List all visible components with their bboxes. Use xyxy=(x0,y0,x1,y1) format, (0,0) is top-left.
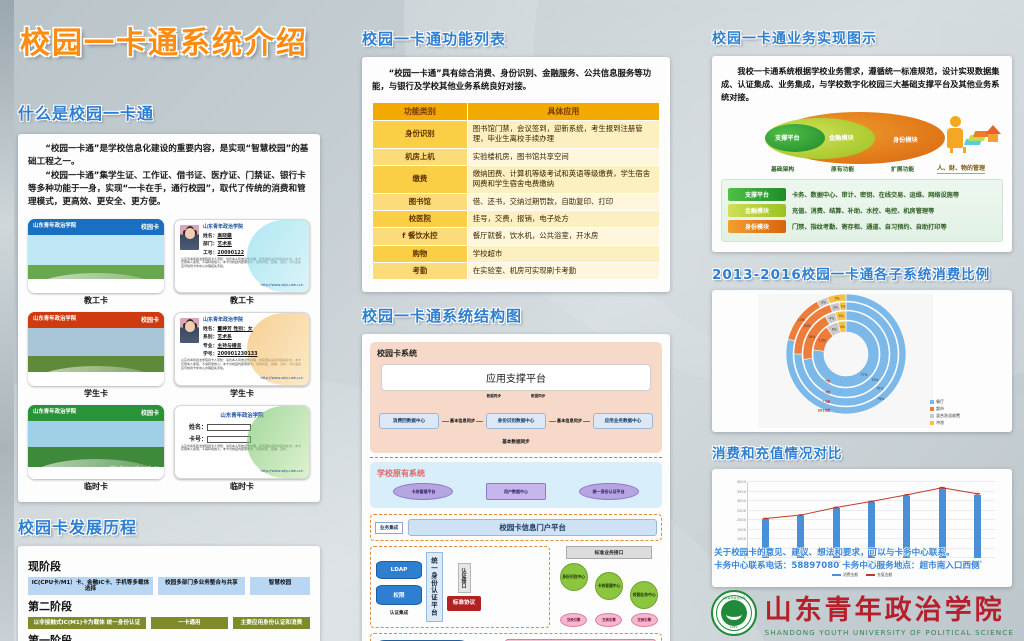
card-cell: 山东青年政治学院 姓名：高晓霞 部门：艺术系 工号：20090122 山东省青年… xyxy=(174,219,310,306)
card-university-name: 山东青年政治学院 xyxy=(33,317,76,323)
y-axis-tick-label: 1000 xyxy=(737,537,746,541)
stage-chip: 智慧校园 xyxy=(250,577,310,595)
cell-application: 图书馆门禁，会议签到，迎新系统，考生报到注册管理，毕业生离校手续办理 xyxy=(467,120,659,148)
card-kind-label: 校园卡 xyxy=(141,315,159,324)
sunburst-label: 5% xyxy=(835,297,840,301)
card-image-temp-back: 山东青年政治学院 姓名： 卡号： 山东省青年政治学院持卡人须知：请凭本人有效证件… xyxy=(174,405,310,479)
node-auth-interface: 认证接口 xyxy=(458,563,471,593)
crest-top-text: 山东青年政治学院 xyxy=(713,596,755,600)
legend-row-support: 支撑平台 卡务、数据中心、审计、密钥、在线交易、运维、网络设施等 xyxy=(728,188,996,201)
legend-row-finance: 金融模块 充值、消费、结算、补助、水控、电控、机房管理等 xyxy=(728,204,996,217)
card-university-name: 山东青年政治学院 xyxy=(203,318,304,324)
table-row: 购物学校超市 xyxy=(373,245,660,262)
business-intro: 我校一卡通系统根据学校业务需求，遵循统一标准规范，设计实现数据集成、认证集成、业… xyxy=(721,65,1003,104)
node-card-management-platform: 卡务管理平台 xyxy=(393,483,453,500)
legend-swatch xyxy=(930,407,934,411)
module-legend: 支撑平台 卡务、数据中心、审计、密钥、在线交易、运维、网络设施等 金融模块 充值… xyxy=(721,179,1003,242)
node-exchange-engine: 交换引擎 xyxy=(595,613,622,627)
card-cell: 山东青年政治学院 校园卡 http://www.sdyu.edu.cn 教工卡 xyxy=(28,219,164,306)
university-name-cn: 山东青年政治学院 xyxy=(765,588,1014,627)
card-image-staff-front: 山东青年政治学院 校园卡 http://www.sdyu.edu.cn xyxy=(28,219,164,293)
node-business-data-center: 应用业务数据中心 xyxy=(593,413,653,429)
node-card-service-center: 卡务管理中心 xyxy=(595,572,623,600)
venn-caption-extended: 扩展功能 xyxy=(891,164,914,173)
cell-category: 购物 xyxy=(373,245,468,262)
diagram-node-row: 消费回数据中心 基本信息同步 身份识别数据中心 基本信息同步 应用业务数据中心 xyxy=(377,413,655,429)
table-row: 机房上机实验楼机房，图书馆共享空间 xyxy=(373,148,660,165)
legend-item: 超市 xyxy=(930,406,960,412)
legend-items: 门禁、指纹考勤、寄存柜、通道、自习预约、自助打印等 xyxy=(792,222,947,231)
cell-application: 实验楼机房，图书馆共享空间 xyxy=(467,148,659,165)
house-icon xyxy=(985,125,1001,134)
line-point xyxy=(763,518,769,520)
legend-swatch xyxy=(866,574,875,576)
node-permission: 权限 xyxy=(376,585,422,605)
function-intro: “校园一卡通”具有综合消费、身份识别、金融服务、公共信息服务等功能，与银行及学校… xyxy=(372,67,660,94)
card-field-dept: 系别：艺术系 xyxy=(203,333,304,340)
legend-tag: 金融模块 xyxy=(728,204,786,217)
line-point xyxy=(974,493,980,495)
legend-tag: 支撑平台 xyxy=(728,188,786,201)
stage-chip: 主要应用身份认证和消费 xyxy=(233,617,310,629)
data-integration-group: 校园卡数据仓库 数据集成 交换引擎 数据交换平台 管理平台 设计工具 消息管理 … xyxy=(370,633,662,641)
line-path xyxy=(766,488,978,519)
contact-line-1: 关于校园卡的意见、建议、想法和要求，可以与卡务中心联系。 xyxy=(714,547,1014,560)
sunburst-label: 73% xyxy=(871,378,878,382)
stage-chip: 以非接触式IC(M1)卡为载体 统一身份认证 xyxy=(28,617,146,629)
portal-platform-box: 校园卡信息门户平台 xyxy=(408,519,657,536)
legend-item: 充值金额 xyxy=(866,572,892,578)
function-table: 功能类别 具体应用 身份识别图书馆门禁，会议签到，迎新系统，考生报到注册管理，毕… xyxy=(372,102,660,281)
person-icon xyxy=(947,116,963,148)
card-cell: 山东青年政治学院 姓名： 卡号： 山东省青年政治学院持卡人须知：请凭本人有效证件… xyxy=(174,405,310,492)
node-standard-protocol: 标准协议 xyxy=(447,596,481,611)
card-field-name: 姓名：高晓霞 xyxy=(203,232,304,239)
card-university-name: 山东青年政治学院 xyxy=(33,410,76,416)
sunburst-label: 3% xyxy=(833,306,838,310)
stage-label-second: 第二阶段 xyxy=(28,598,310,614)
link-label-basic-info-sync-1: 基本信息同步 xyxy=(450,418,475,424)
legend-item: 冲浪 xyxy=(930,420,960,426)
column-left: 什么是校园一卡通 “校园一卡通”是学校信息化建设的重要内容，是实现“智慧校园”的… xyxy=(18,100,320,641)
link-label-sync-2: 数据同步 xyxy=(531,394,545,399)
card-url: http://www.sdyu.edu.cn xyxy=(109,372,159,377)
card-image-student-back: 山东青年政治学院 姓名：董婷芳 性别：女 系别：艺术系 专业：主持与播音 学号：… xyxy=(174,312,310,386)
legend-tag: 身份模块 xyxy=(728,220,786,233)
y-axis-tick-label: 2000 xyxy=(737,518,746,522)
card-cell: 山东青年政治学院 姓名：董婷芳 性别：女 系别：艺术系 专业：主持与播音 学号：… xyxy=(174,312,310,399)
table-row: 图书馆借、还书，交纳过期罚款，自助复印、打印 xyxy=(373,193,660,210)
section-title-functions: 校园一卡通功能列表 xyxy=(362,28,670,49)
table-row: 缴费缴纳团费、计算机等级考试和英语等级缴费，学生宿舍网费和学生宿舍电费缴纳 xyxy=(373,165,660,193)
y-axis-tick-label: 3000 xyxy=(737,499,746,503)
stage-chip: 校园多部门多业务整合与共享 xyxy=(158,577,245,595)
intro-paragraph-1: “校园一卡通”是学校信息化建设的重要内容，是实现“智慧校园”的基础工程之一。 xyxy=(28,143,310,170)
sunburst-label: 20% xyxy=(804,325,811,329)
card-caption: 学生卡 xyxy=(28,388,164,399)
card-url: http://www.sdyu.edu.cn xyxy=(109,465,159,470)
column-right: 校园一卡通业务实现图示 我校一卡通系统根据学校业务需求，遵循统一标准规范，设计实… xyxy=(712,28,1012,587)
card-caption: 临时卡 xyxy=(28,481,164,492)
table-row: 考勤在实验室、机房可实现刷卡考勤 xyxy=(373,263,660,280)
card-field-major: 专业：主持与播音 xyxy=(203,342,304,349)
table-row: f 餐饮水控餐厅就餐，饮水机，公共浴室，开水房 xyxy=(373,228,660,245)
sunburst-label: 2% xyxy=(840,305,845,309)
page-title: 校园一卡通系统介绍 xyxy=(20,18,308,62)
name-input[interactable] xyxy=(207,424,251,431)
card-caption: 临时卡 xyxy=(174,481,310,492)
sunburst-label: 75% xyxy=(876,387,883,391)
card-university-name: 山东青年政治学院 xyxy=(203,225,304,231)
line-point xyxy=(904,494,910,496)
sunburst-label: 13% xyxy=(798,318,805,322)
venn-label-finance: 金融模块 xyxy=(829,133,854,142)
venn-diagram: 支撑平台 金融模块 身份模块 基础架构 原有功能 扩展功能 人、财、物的管理 xyxy=(721,110,1003,172)
card-url: http://www.sdyu.edu.cn xyxy=(260,469,303,473)
stage-row-second: 以非接触式IC(M1)卡为载体 统一身份认证 一卡通用 主要应用身份认证和消费 xyxy=(28,617,310,629)
business-panel: 我校一卡通系统根据学校业务需求，遵循统一标准规范，设计实现数据集成、认证集成、业… xyxy=(712,56,1012,252)
university-crest-icon: 山东青年政治学院 1949 xyxy=(711,590,757,636)
legend-label: 超市 xyxy=(936,406,944,412)
sunburst-label: 19% xyxy=(808,335,815,339)
section-title-structure: 校园一卡通系统结构图 xyxy=(362,305,670,326)
link-label-basic-data-sync: 基本数据同步 xyxy=(377,439,655,445)
card-cell: 山东青年政治学院 校园卡 http://www.sdyu.edu.cn 临时卡 xyxy=(28,405,164,492)
diagram-band-card-system: 校园卡系统 应用支撑平台 数据同步 数据同步 消费回数据中心 基本信息同步 身份… xyxy=(370,342,662,453)
legend-label: 消费金额 xyxy=(843,572,858,577)
cell-category: 考勤 xyxy=(373,263,468,280)
card-image-temp-front: 山东青年政治学院 校园卡 http://www.sdyu.edu.cn xyxy=(28,405,164,479)
stage-chip: 一卡通用 xyxy=(151,617,228,629)
integration-middle-area: LDAP 权限 认证集成 统一身份认证平台 认证接口 标准协议 标准业务接口 身… xyxy=(370,546,662,627)
cell-category: 缴费 xyxy=(373,165,468,193)
timeline-panel: 现阶段 IC(CPU卡/M1）卡、金融IC卡、手机等多载体选择 校园多部门多业务… xyxy=(18,546,320,641)
diagram-band-legacy-system: 学校原有系统 卡务管理平台 用户数据中心 统一身份认证平台 xyxy=(370,462,662,508)
card-image-staff-back: 山东青年政治学院 姓名：高晓霞 部门：艺术系 工号：20090122 山东省青年… xyxy=(174,219,310,293)
section-title-business: 校园一卡通业务实现图示 xyxy=(712,28,1012,48)
sunburst-label: 4% xyxy=(840,325,845,329)
link-label-basic-info-sync-2: 基本信息同步 xyxy=(557,418,582,424)
footer-logo: 山东青年政治学院 1949 山东青年政治学院 SHANDONG YOUTH UN… xyxy=(711,588,1014,637)
legend-item: 混合洗浴收费 xyxy=(930,413,960,419)
section-title-what-is: 什么是校园一卡通 xyxy=(18,100,320,124)
contact-info: 关于校园卡的意见、建议、想法和要求，可以与卡务中心联系。 卡务中心联系电话：58… xyxy=(714,547,1014,573)
node-standard-business-interface: 标准业务接口 xyxy=(566,546,653,559)
card-wave-decoration xyxy=(247,406,309,478)
sunburst-svg: 77%13%6%4%2013年73%19%4%4%2014年75%20%3%2%… xyxy=(758,294,933,428)
y-axis-tick-label: 2500 xyxy=(737,509,746,513)
node-campus-business-center: 校园业务中心 xyxy=(630,581,658,609)
sunburst-chart: 77%13%6%4%2013年73%19%4%4%2014年75%20%3%2%… xyxy=(758,294,933,428)
portal-group: 业务集成 校园卡信息门户平台 xyxy=(370,514,662,541)
tag-business-integration: 业务集成 xyxy=(375,522,403,534)
cell-application: 借、还书，交纳过期罚款，自助复印、打印 xyxy=(467,193,659,210)
card-kind-label: 校园卡 xyxy=(141,222,159,231)
card-field-studentno: 学号：200901230133 xyxy=(203,350,304,357)
legend-label: 混合洗浴收费 xyxy=(936,413,960,419)
crest-year: 1949 xyxy=(713,625,755,629)
venn-label-support: 支撑平台 xyxy=(775,133,800,142)
sunburst-label: 79% xyxy=(877,397,884,401)
stage-label-first: 第一阶段 xyxy=(28,632,310,641)
table-row: 身份识别图书馆门禁，会议签到，迎新系统，考生报到注册管理，毕业生离校手续办理 xyxy=(373,120,660,148)
label-auth-integration: 认证集成 xyxy=(376,610,422,616)
card-kind-label: 校园卡 xyxy=(141,408,159,417)
cell-application: 缴纳团费、计算机等级考试和英语等级缴费，学生宿舍网费和学生宿舍电费缴纳 xyxy=(467,165,659,193)
venn-caption-existing: 原有功能 xyxy=(831,164,854,173)
node-consumption-data-center: 消费回数据中心 xyxy=(379,413,439,429)
section-title-consumption-ratio: 2013-2016校园一卡通各子系统消费比例 xyxy=(712,263,1012,283)
legend-label: 冲浪 xyxy=(936,420,944,426)
contact-line-2: 卡务中心联系电话：58897080 卡务中心服务地点：超市南入口西侧 xyxy=(714,560,1014,573)
card-caption: 教工卡 xyxy=(28,295,164,306)
auth-cylinder-column: LDAP 权限 认证集成 xyxy=(376,558,422,616)
table-row: 校医院挂号，交费，报销，电子处方 xyxy=(373,211,660,228)
stage-label-current: 现阶段 xyxy=(28,558,310,574)
card-url: http://www.sdyu.edu.cn xyxy=(260,376,303,380)
venn-caption-basic: 基础架构 xyxy=(771,164,794,173)
legend-item: 消费金额 xyxy=(832,572,858,578)
card-field-dept: 部门：艺术系 xyxy=(203,240,304,247)
cell-category: 机房上机 xyxy=(373,148,468,165)
structure-diagram-panel: 校园卡系统 应用支撑平台 数据同步 数据同步 消费回数据中心 基本信息同步 身份… xyxy=(362,334,670,641)
legend-items: 卡务、数据中心、审计、密钥、在线交易、运维、网络设施等 xyxy=(792,190,959,199)
line-point xyxy=(833,507,839,509)
diagram-divider xyxy=(370,457,662,458)
cell-category: 身份识别 xyxy=(373,120,468,148)
card-university-name: 山东青年政治学院 xyxy=(33,224,76,230)
column-header-application: 具体应用 xyxy=(467,102,659,120)
legacy-node-row: 卡务管理平台 用户数据中心 统一身份认证平台 xyxy=(377,483,655,500)
node-identity-data-center: 身份识别数据中心 xyxy=(486,413,546,429)
card-field-name: 姓名：董婷芳 性别：女 xyxy=(203,325,304,332)
line-point xyxy=(939,487,945,489)
function-list-panel: “校园一卡通”具有综合消费、身份识别、金融服务、公共信息服务等功能，与银行及学校… xyxy=(362,57,670,292)
card-url: http://www.sdyu.edu.cn xyxy=(109,279,159,284)
y-axis-tick-label: 4000 xyxy=(737,480,746,484)
chart-legend: 餐厅超市混合洗浴收费冲浪 xyxy=(930,398,960,426)
sunburst-label: 6% xyxy=(832,328,837,332)
card-portrait-photo xyxy=(180,225,199,250)
node-user-data-center: 用户数据中心 xyxy=(486,483,546,500)
legend-items: 充值、消费、结算、补助、水控、电控、机房管理等 xyxy=(792,206,934,215)
legend-swatch xyxy=(832,574,841,576)
section-title-compare: 消费和充值情况对比 xyxy=(712,442,1012,462)
y-axis-tick-label: 3500 xyxy=(737,490,746,494)
sunburst-label: 4% xyxy=(829,317,834,321)
line-point xyxy=(798,515,804,517)
legend-row-identity: 身份模块 门禁、指纹考勤、寄存柜、通道、自习预约、自助打印等 xyxy=(728,220,996,233)
cell-category: 图书馆 xyxy=(373,193,468,210)
card-image-student-front: 山东青年政治学院 校园卡 http://www.sdyu.edu.cn xyxy=(28,312,164,386)
donut-chart-panel: 77%13%6%4%2013年73%19%4%4%2014年75%20%3%2%… xyxy=(712,290,1012,432)
architecture-diagram: 校园卡系统 应用支撑平台 数据同步 数据同步 消费回数据中心 基本信息同步 身份… xyxy=(370,342,662,641)
intro-panel: “校园一卡通”是学校信息化建设的重要内容，是实现“智慧校园”的基础工程之一。 “… xyxy=(18,134,320,502)
person-management-label: 人、财、物的管理 xyxy=(937,163,985,174)
application-support-platform-box: 应用支撑平台 xyxy=(381,364,651,391)
auth-integration-group: LDAP 权限 认证集成 统一身份认证平台 认证接口 标准协议 xyxy=(370,546,550,627)
section-title-history: 校园卡发展历程 xyxy=(18,514,320,538)
column-header-category: 功能类别 xyxy=(373,102,468,120)
band-title: 校园卡系统 xyxy=(377,348,655,359)
legend-swatch xyxy=(930,400,934,404)
band-title: 学校原有系统 xyxy=(377,468,655,479)
portal-bar: 业务集成 校园卡信息门户平台 xyxy=(375,519,657,536)
link-label-sync-1: 数据同步 xyxy=(487,394,501,399)
university-name-en: SHANDONG YOUTH UNIVERSITY OF POLITICAL S… xyxy=(765,628,1014,637)
cell-application: 在实验室、机房可实现刷卡考勤 xyxy=(467,263,659,280)
legend-label: 餐厅 xyxy=(936,399,944,405)
bar-chart-legend: 消费金额充值金额 xyxy=(719,572,1005,578)
cell-application: 学校超市 xyxy=(467,245,659,262)
cell-application: 挂号，交费，报销，电子处方 xyxy=(467,211,659,228)
intro-paragraph-2: “校园一卡通”集学生证、工作证、借书证、医疗证、门禁证、银行卡等多种功能于一身，… xyxy=(28,170,310,210)
left-edge-bar xyxy=(0,0,14,641)
table-header-row: 功能类别 具体应用 xyxy=(373,102,660,120)
sunburst-label: 3% xyxy=(821,301,826,305)
card-caption: 教工卡 xyxy=(174,295,310,306)
card-gallery: 山东青年政治学院 校园卡 http://www.sdyu.edu.cn 教工卡 … xyxy=(28,219,310,492)
stage-chip: IC(CPU卡/M1）卡、金融IC卡、手机等多载体选择 xyxy=(28,577,153,595)
cell-category: f 餐饮水控 xyxy=(373,228,468,245)
node-ldap: LDAP xyxy=(376,561,422,579)
node-unified-auth-platform-box: 统一身份认证平台 xyxy=(426,552,443,621)
node-identity-center: 身份识别中心 xyxy=(560,563,588,591)
legend-swatch xyxy=(930,414,934,418)
card-caption: 学生卡 xyxy=(174,388,310,399)
card-field-id: 工号：20090122 xyxy=(203,249,304,256)
y-axis-tick-label: 1500 xyxy=(737,528,746,532)
line-point xyxy=(869,501,875,503)
sunburst-label: 4% xyxy=(839,315,844,319)
card-portrait-photo xyxy=(180,318,199,343)
venn-label-identity: 身份模块 xyxy=(893,135,918,144)
legend-label: 充值金额 xyxy=(877,572,892,577)
node-exchange-engine: 交换引擎 xyxy=(631,613,658,627)
cell-category: 校医院 xyxy=(373,211,468,228)
sunburst-label: 13% xyxy=(819,339,826,343)
legend-swatch xyxy=(930,421,934,425)
node-unified-auth-platform: 统一身份认证平台 xyxy=(579,483,639,500)
sunburst-label: 77% xyxy=(861,373,868,377)
stage-row-current: IC(CPU卡/M1）卡、金融IC卡、手机等多载体选择 校园多部门多业务整合与共… xyxy=(28,577,310,595)
card-cell: 山东青年政治学院 校园卡 http://www.sdyu.edu.cn 学生卡 xyxy=(28,312,164,399)
cell-application: 餐厅就餐，饮水机，公共浴室，开水房 xyxy=(467,228,659,245)
card-url: http://www.sdyu.edu.cn xyxy=(260,283,303,287)
column-middle: 校园一卡通功能列表 “校园一卡通”具有综合消费、身份识别、金融服务、公共信息服务… xyxy=(362,28,670,641)
node-exchange-engine: 交换引擎 xyxy=(560,613,587,627)
legend-item: 餐厅 xyxy=(930,399,960,405)
cardno-input[interactable] xyxy=(207,436,251,443)
sunburst-ring-label: 2016年 xyxy=(818,408,831,413)
